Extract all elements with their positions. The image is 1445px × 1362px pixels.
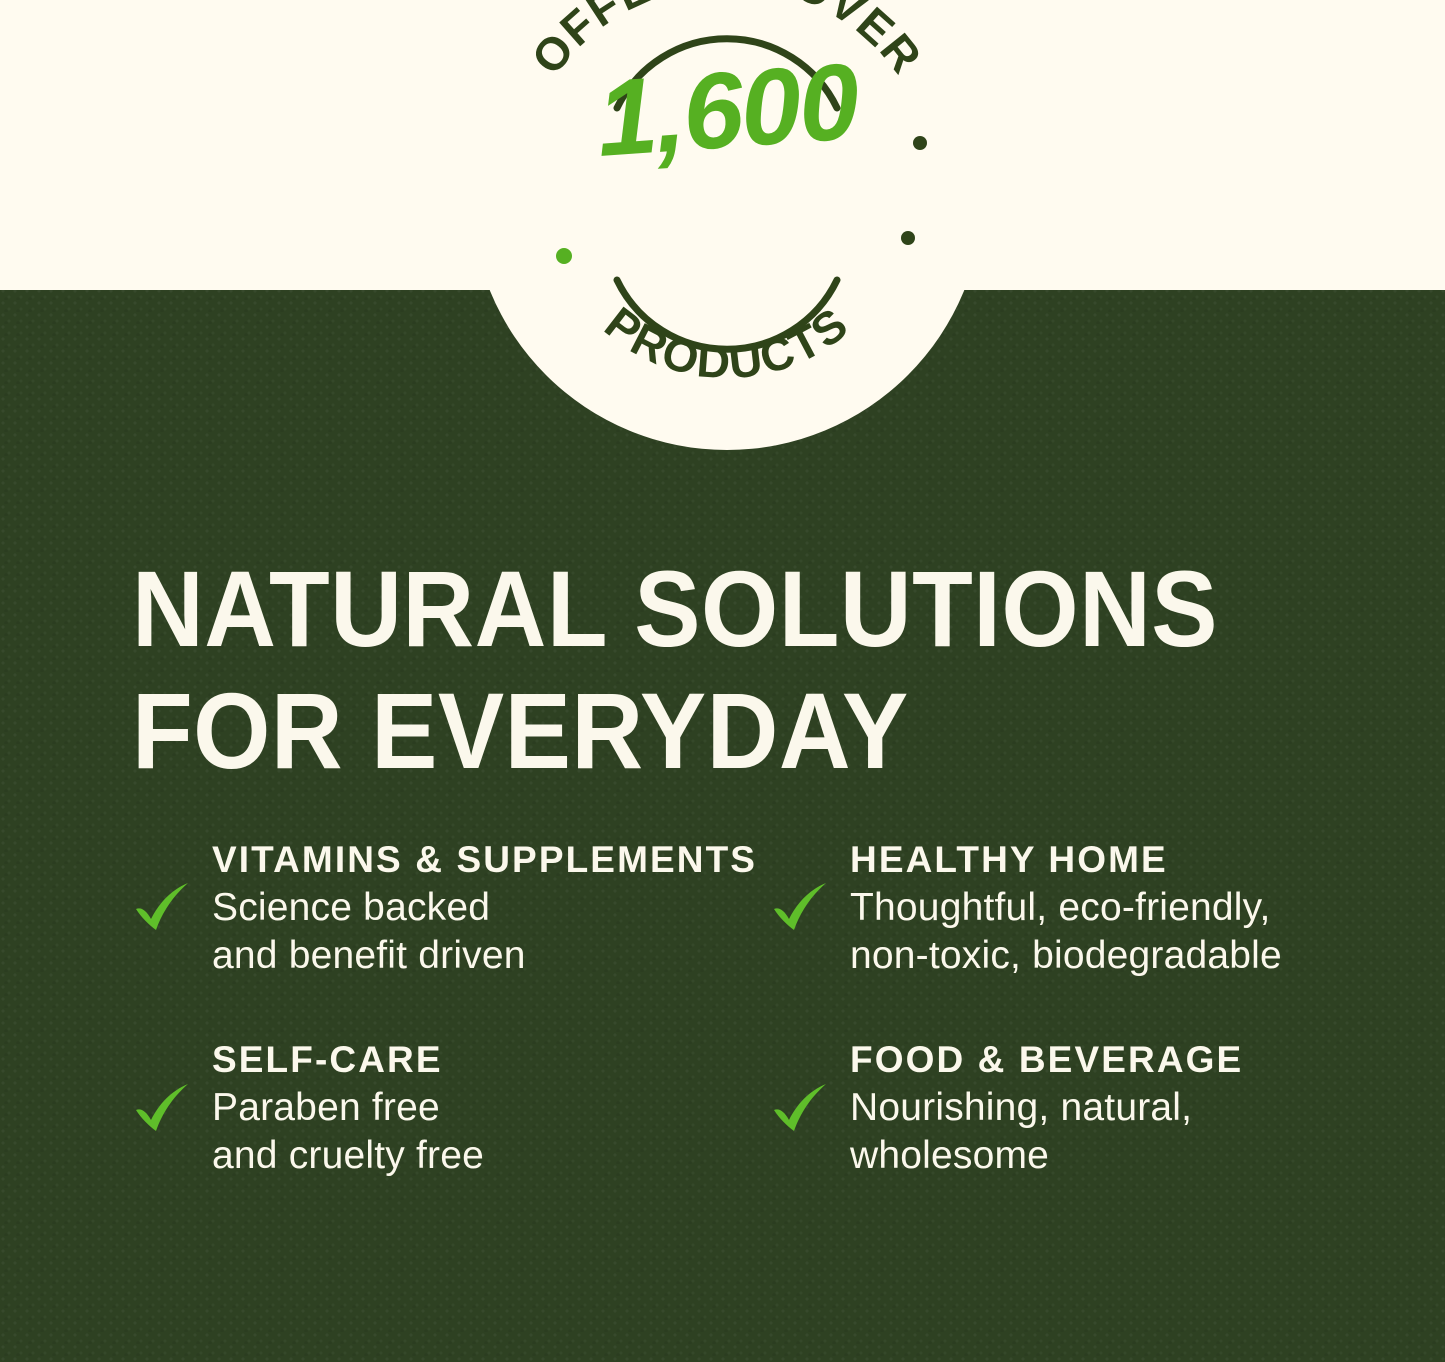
badge-dot-left-green [556, 248, 572, 264]
feature-item-healthy-home: HEALTHY HOME Thoughtful, eco-friendly, n… [770, 838, 1390, 980]
check-icon [770, 1079, 832, 1141]
feature-text-block: FOOD & BEVERAGE Nourishing, natural, who… [850, 1038, 1390, 1180]
feature-title-line-1: FOOD & BEVERAGE [850, 1039, 1243, 1080]
feature-text-block: VITAMINS & SUPPLEMENTS Science backed an… [212, 838, 770, 980]
feature-description: Nourishing, natural, wholesome [850, 1084, 1390, 1181]
feature-item-vitamins-supplements: VITAMINS & SUPPLEMENTS Science backed an… [132, 838, 770, 980]
offering-over-products-badge: OFFERING OVER PRODUCTS 1,600 [471, 0, 983, 450]
check-icon [770, 878, 832, 940]
feature-title-line-1: HEALTHY HOME [850, 839, 1168, 880]
feature-description: Science backed and benefit driven [212, 884, 770, 981]
feature-title-line-2: SUPPLEMENTS [456, 839, 757, 880]
feature-title-line-1: VITAMINS & [212, 839, 444, 880]
feature-title-line-1: SELF-CARE [212, 1039, 443, 1080]
feature-text-block: HEALTHY HOME Thoughtful, eco-friendly, n… [850, 838, 1390, 980]
feature-desc-line-2: and cruelty free [212, 1132, 770, 1180]
feature-grid: VITAMINS & SUPPLEMENTS Science backed an… [132, 838, 1390, 1181]
badge-artwork: OFFERING OVER PRODUCTS 1,600 [471, 0, 983, 450]
feature-title: SELF-CARE [212, 1038, 770, 1082]
feature-item-food-beverage: FOOD & BEVERAGE Nourishing, natural, who… [770, 1038, 1390, 1180]
check-icon [132, 1079, 194, 1141]
feature-desc-line-1: Paraben free [212, 1084, 770, 1132]
feature-item-self-care: SELF-CARE Paraben free and cruelty free [132, 1038, 770, 1180]
badge-dot-right-lower [901, 231, 915, 245]
headline-line-1: NATURAL SOLUTIONS [132, 548, 1273, 670]
brand-banner: OFFERING OVER PRODUCTS 1,600 NATURAL SOL… [0, 0, 1445, 1362]
feature-desc-line-1: Science backed [212, 884, 770, 932]
feature-text-block: SELF-CARE Paraben free and cruelty free [212, 1038, 770, 1180]
headline-line-2: FOR EVERYDAY [132, 670, 1273, 792]
feature-title: HEALTHY HOME [850, 838, 1390, 882]
check-icon [132, 878, 194, 940]
feature-desc-line-1: Nourishing, natural, [850, 1084, 1390, 1132]
feature-desc-line-1: Thoughtful, eco-friendly, [850, 884, 1390, 932]
feature-desc-line-2: wholesome [850, 1132, 1390, 1180]
feature-title: VITAMINS & SUPPLEMENTS [212, 838, 770, 882]
page-title: NATURAL SOLUTIONS FOR EVERYDAY [132, 548, 1273, 792]
feature-desc-line-2: non-toxic, biodegradable [850, 932, 1390, 980]
feature-title: FOOD & BEVERAGE [850, 1038, 1390, 1082]
feature-description: Thoughtful, eco-friendly, non-toxic, bio… [850, 884, 1390, 981]
feature-description: Paraben free and cruelty free [212, 1084, 770, 1181]
feature-desc-line-2: and benefit driven [212, 932, 770, 980]
